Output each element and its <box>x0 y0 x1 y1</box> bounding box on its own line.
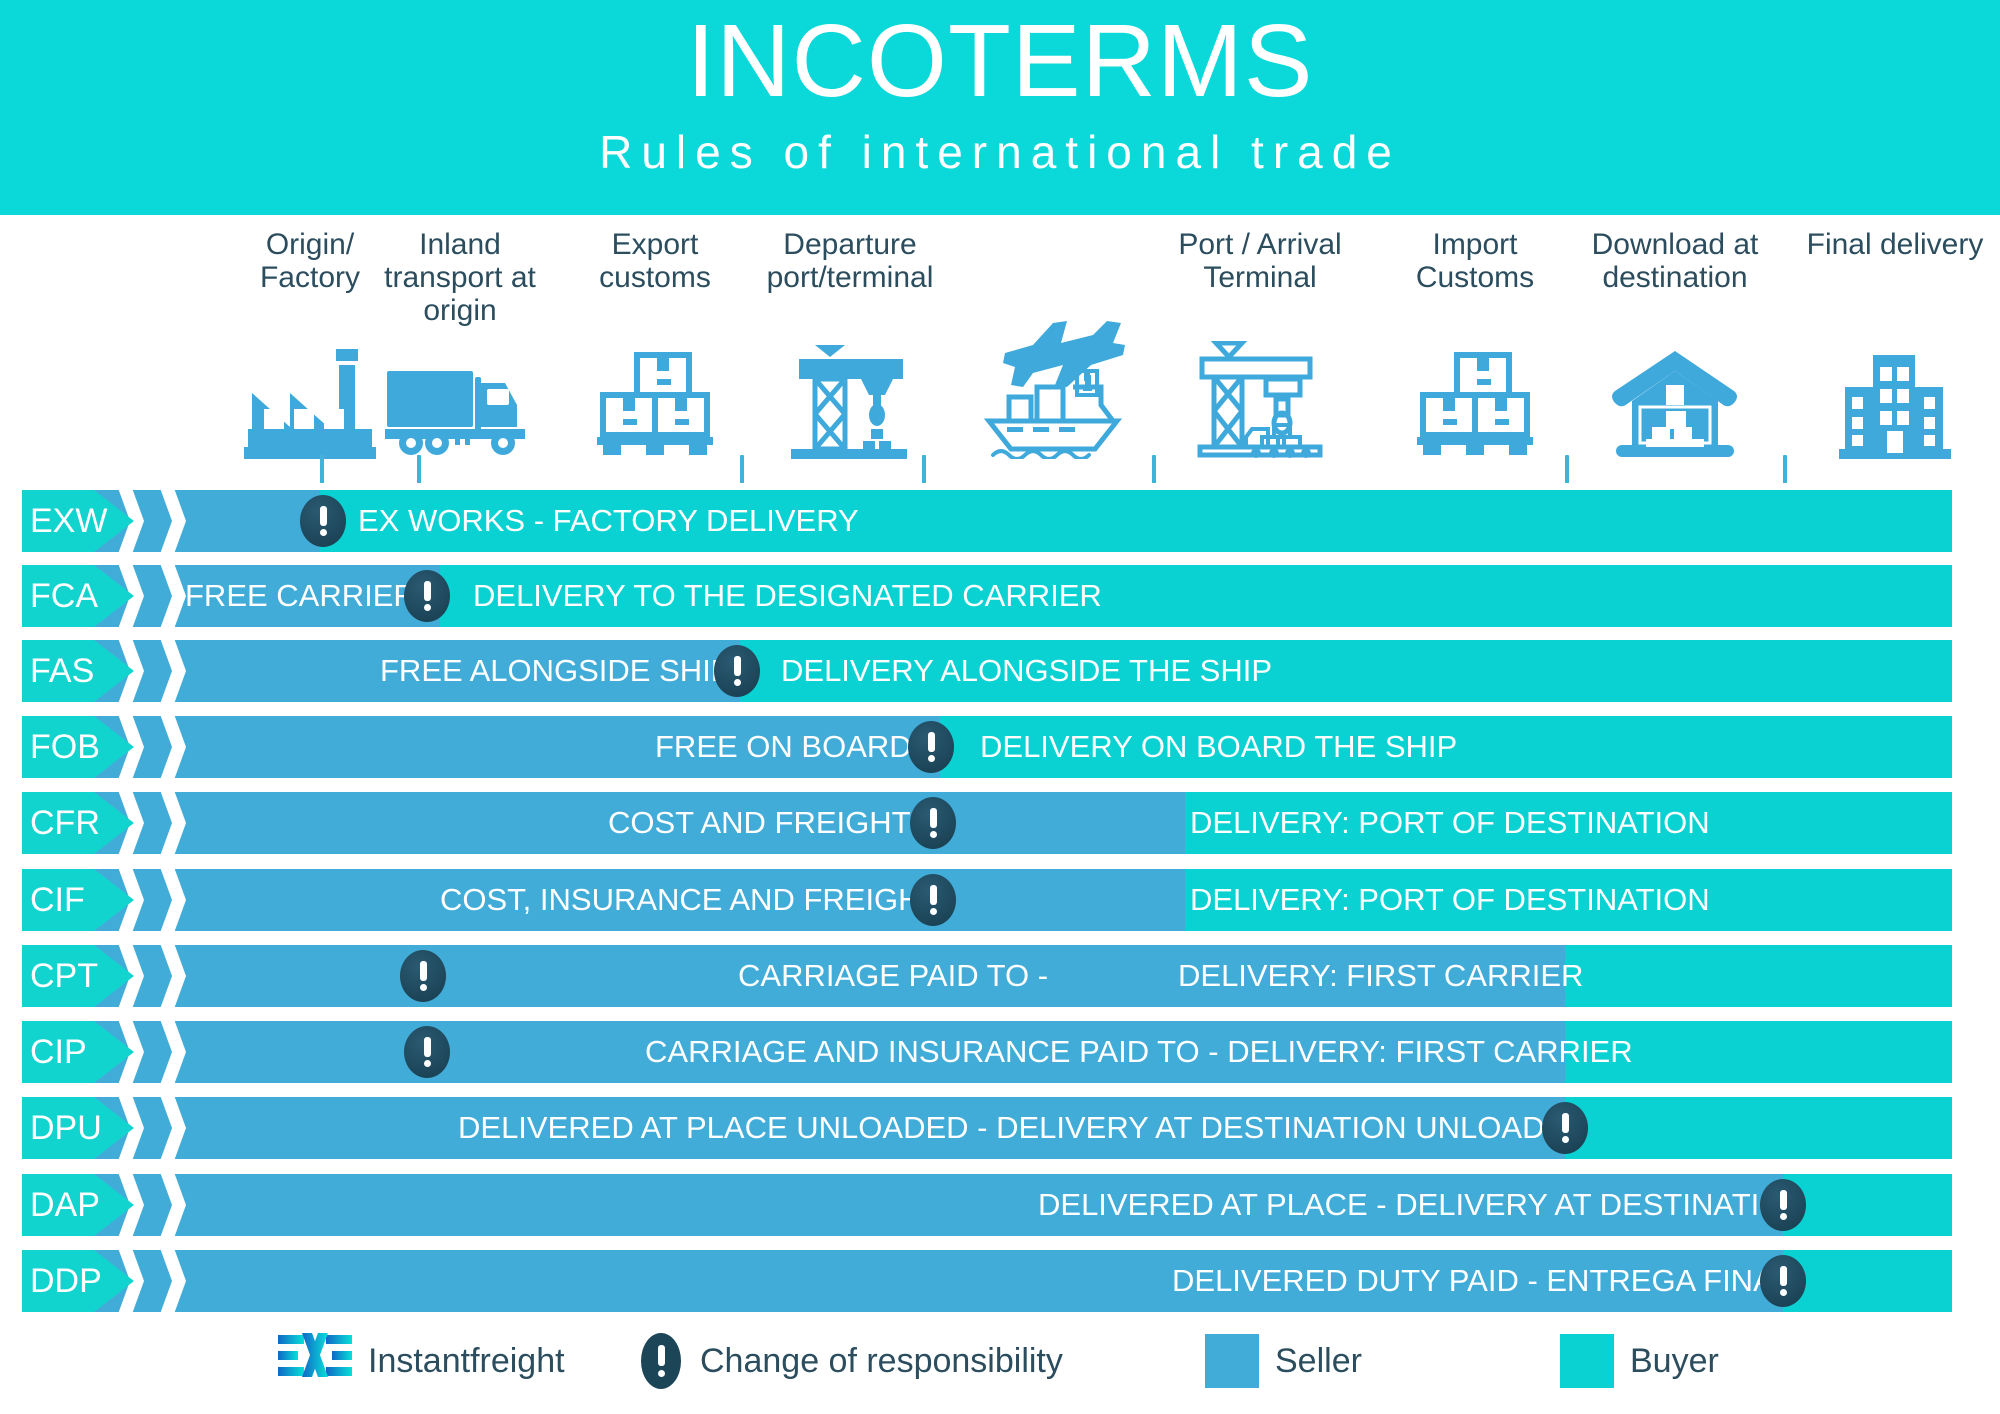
change-of-responsibility-icon[interactable] <box>1760 1250 1806 1312</box>
column-separator <box>320 633 325 640</box>
column-separator <box>1565 633 1570 640</box>
legend-seller: Seller <box>1205 1326 1362 1396</box>
buyer-segment <box>1565 945 1952 1007</box>
column-separator <box>320 558 325 565</box>
incoterm-code-label: CIF <box>30 869 114 931</box>
column-separator <box>1152 709 1157 716</box>
column-separator <box>320 1014 325 1021</box>
column-separator <box>740 633 745 640</box>
column-separator <box>417 1167 422 1174</box>
change-of-responsibility-icon[interactable] <box>1542 1097 1588 1159</box>
column-separator <box>1152 633 1157 640</box>
column-separator <box>1783 1243 1788 1250</box>
column-separator <box>1565 938 1570 945</box>
incoterm-description: CARRIAGE AND INSURANCE PAID TO - DELIVER… <box>645 1021 1633 1083</box>
seller-color-swatch <box>1205 1334 1259 1388</box>
incoterm-row[interactable]: DDPDELIVERED DUTY PAID - ENTREGA FINAL <box>0 1250 2000 1312</box>
stage-column-label: Final delivery <box>1790 228 2000 261</box>
column-separator <box>740 1014 745 1021</box>
incoterm-description: FREE ON BOARD <box>655 716 912 778</box>
incoterm-row[interactable]: CPTCARRIAGE PAID TO -DELIVERY: FIRST CAR… <box>0 945 2000 1007</box>
column-separator <box>417 633 422 640</box>
column-separator <box>1565 1090 1570 1097</box>
column-separator <box>1565 558 1570 565</box>
column-separator <box>1783 483 1788 490</box>
column-separator <box>740 1090 745 1097</box>
column-separator <box>740 785 745 792</box>
column-separator <box>1565 1014 1570 1021</box>
legend-brand-label: Instantfreight <box>368 1342 565 1381</box>
column-separator <box>1152 785 1157 792</box>
column-separator <box>1152 483 1157 490</box>
column-separator <box>417 709 422 716</box>
buyer-segment <box>1783 1174 1952 1236</box>
column-separator <box>740 1167 745 1174</box>
change-of-responsibility-icon[interactable] <box>300 490 346 552</box>
column-separator <box>922 862 927 869</box>
column-separator <box>320 1090 325 1097</box>
column-separator <box>320 709 325 716</box>
incoterm-code-label: CIP <box>30 1021 114 1083</box>
incoterm-row[interactable]: EXWEX WORKS - FACTORY DELIVERY <box>0 490 2000 552</box>
column-separator <box>1565 709 1570 716</box>
stage-columns: Origin/ Factory Inland transport at orig… <box>0 228 2000 478</box>
change-of-responsibility-icon <box>638 1330 684 1392</box>
buyer-color-swatch <box>1560 1334 1614 1388</box>
column-separator <box>1783 633 1788 640</box>
incoterm-row[interactable]: CFRCOST AND FREIGHTDELIVERY: PORT OF DES… <box>0 792 2000 854</box>
column-separator <box>1565 785 1570 792</box>
incoterm-description: DELIVERED AT PLACE - DELIVERY AT DESTINA… <box>1038 1174 1806 1236</box>
buyer-segment <box>1783 1250 1952 1312</box>
column-separator <box>922 785 927 792</box>
incoterm-row[interactable]: FOBFREE ON BOARDDELIVERY ON BOARD THE SH… <box>0 716 2000 778</box>
column-separator <box>1152 862 1157 869</box>
incoterm-delivery-note: DELIVERY ALONGSIDE THE SHIP <box>781 640 1272 702</box>
column-separator <box>740 938 745 945</box>
column-separator <box>320 785 325 792</box>
buyer-segment <box>1565 1097 1952 1159</box>
incoterm-code-label: DDP <box>30 1250 114 1312</box>
column-separator <box>1152 1014 1157 1021</box>
incoterm-code-label: FOB <box>30 716 114 778</box>
column-separator <box>320 1167 325 1174</box>
port-crane-icon <box>735 339 965 459</box>
column-separator <box>1565 1167 1570 1174</box>
stage-column-label: Port / Arrival Terminal <box>1145 228 1375 294</box>
incoterm-code-label: FAS <box>30 640 114 702</box>
change-of-responsibility-icon[interactable] <box>908 716 954 778</box>
incoterm-description: EX WORKS - FACTORY DELIVERY <box>358 490 859 552</box>
page-header: INCOTERMS Rules of international trade <box>0 0 2000 215</box>
column-separator <box>417 1014 422 1021</box>
column-separator <box>417 862 422 869</box>
seller-segment <box>22 792 1185 854</box>
legend-responsibility-label: Change of responsibility <box>700 1342 1063 1381</box>
column-separator <box>740 558 745 565</box>
import-pallet-icon <box>1375 339 1575 459</box>
legend-brand: Instantfreight <box>278 1326 565 1396</box>
column-separator <box>1565 1243 1570 1250</box>
stage-column-label: Export customs <box>555 228 755 294</box>
incoterm-row[interactable]: CIPCARRIAGE AND INSURANCE PAID TO - DELI… <box>0 1021 2000 1083</box>
stage-column-label: Download at destination <box>1560 228 1790 294</box>
incoterm-delivery-note: DELIVERY TO THE DESIGNATED CARRIER <box>473 565 1102 627</box>
instantfreight-logo-icon <box>278 1331 352 1392</box>
stage-column-arrival-crane-icon: Port / Arrival Terminal <box>1145 228 1375 294</box>
incoterm-delivery-note: DELIVERY: FIRST CARRIER <box>1178 945 1583 1007</box>
incoterm-code-label: DAP <box>30 1174 114 1236</box>
incoterms-infographic: INCOTERMS Rules of international trade O… <box>0 0 2000 1414</box>
column-separator <box>922 938 927 945</box>
column-separator <box>922 1014 927 1021</box>
stage-column-port-crane-icon: Departure port/terminal <box>735 228 965 294</box>
incoterm-description: DELIVERED AT PLACE UNLOADED - DELIVERY A… <box>458 1097 1588 1159</box>
buildings-icon <box>1790 339 2000 459</box>
change-of-responsibility-icon[interactable] <box>404 1021 450 1083</box>
incoterm-description: CARRIAGE PAID TO - <box>738 945 1048 1007</box>
incoterm-code-label: EXW <box>30 490 114 552</box>
column-separator <box>922 558 927 565</box>
pallet-boxes-icon <box>555 339 755 459</box>
legend: Instantfreight Change of responsibility … <box>0 1326 2000 1414</box>
column-separator <box>1783 862 1788 869</box>
stage-column-truck-icon: Inland transport at origin <box>355 228 565 327</box>
change-of-responsibility-icon[interactable] <box>1760 1174 1806 1236</box>
incoterm-description: FREE CARRIER <box>185 565 416 627</box>
legend-buyer-label: Buyer <box>1630 1342 1719 1381</box>
column-separator <box>320 938 325 945</box>
column-separator <box>1152 1243 1157 1250</box>
page-title: INCOTERMS <box>0 6 2000 116</box>
legend-buyer: Buyer <box>1560 1326 1719 1396</box>
column-separator <box>1565 483 1570 490</box>
column-separator <box>417 785 422 792</box>
stage-column-warehouse-icon: Download at destination <box>1560 228 1790 294</box>
column-separator <box>1783 709 1788 716</box>
incoterm-description: DELIVERED DUTY PAID - ENTREGA FINAL <box>1172 1250 1791 1312</box>
incoterm-code-label: CPT <box>30 945 114 1007</box>
column-separator <box>1565 862 1570 869</box>
column-separator <box>922 1167 927 1174</box>
incoterm-row[interactable]: DAPDELIVERED AT PLACE - DELIVERY AT DEST… <box>0 1174 2000 1236</box>
column-separator <box>740 709 745 716</box>
incoterm-row[interactable]: FASFREE ALONGSIDE SHIPDELIVERY ALONGSIDE… <box>0 640 2000 702</box>
incoterm-row[interactable]: DPUDELIVERED AT PLACE UNLOADED - DELIVER… <box>0 1097 2000 1159</box>
legend-seller-label: Seller <box>1275 1342 1362 1381</box>
change-of-responsibility-icon[interactable] <box>404 565 450 627</box>
incoterm-row[interactable]: FCAFREE CARRIERDELIVERY TO THE DESIGNATE… <box>0 565 2000 627</box>
column-separator <box>417 938 422 945</box>
column-separator <box>922 1243 927 1250</box>
incoterm-description: COST AND FREIGHT <box>608 792 911 854</box>
incoterm-delivery-note: DELIVERY ON BOARD THE SHIP <box>980 716 1457 778</box>
warehouse-icon <box>1560 339 1790 459</box>
column-separator <box>417 1090 422 1097</box>
incoterm-delivery-note: DELIVERY: PORT OF DESTINATION <box>1190 869 1710 931</box>
incoterm-code-label: DPU <box>30 1097 114 1159</box>
stage-column-buildings-icon: Final delivery <box>1790 228 2000 261</box>
change-of-responsibility-icon[interactable] <box>714 640 760 702</box>
column-separator <box>417 558 422 565</box>
truck-icon <box>355 339 565 459</box>
column-separator <box>1783 1167 1788 1174</box>
change-of-responsibility-icon[interactable] <box>910 792 956 854</box>
column-separator <box>417 483 422 490</box>
incoterm-row[interactable]: CIFCOST, INSURANCE AND FREIGHTDELIVERY: … <box>0 869 2000 931</box>
column-separator <box>320 1243 325 1250</box>
column-separator <box>1783 938 1788 945</box>
column-separator <box>922 709 927 716</box>
column-separator <box>1783 558 1788 565</box>
incoterm-code-label: CFR <box>30 792 114 854</box>
column-separator <box>320 483 325 490</box>
column-separator <box>1783 1090 1788 1097</box>
incoterm-description: FREE ALONGSIDE SHIP <box>380 640 731 702</box>
column-separator <box>1152 558 1157 565</box>
column-separator <box>740 483 745 490</box>
column-separator <box>417 1243 422 1250</box>
stage-column-pallet-boxes-icon: Export customs <box>555 228 755 294</box>
arrival-crane-icon <box>1145 339 1375 459</box>
incoterm-code-label: FCA <box>30 565 114 627</box>
incoterm-description: COST, INSURANCE AND FREIGHT <box>440 869 940 931</box>
column-separator <box>1783 785 1788 792</box>
stage-column-label: Departure port/terminal <box>735 228 965 294</box>
change-of-responsibility-icon[interactable] <box>910 869 956 931</box>
column-separator <box>1152 1167 1157 1174</box>
stage-column-label: Inland transport at origin <box>355 228 565 327</box>
column-separator <box>1783 1014 1788 1021</box>
column-separator <box>922 483 927 490</box>
column-separator <box>320 862 325 869</box>
stage-column-label: Import Customs <box>1375 228 1575 294</box>
change-of-responsibility-icon[interactable] <box>400 945 446 1007</box>
column-separator <box>740 862 745 869</box>
column-separator <box>1152 1090 1157 1097</box>
column-separator <box>1152 938 1157 945</box>
plane-ship-icon <box>955 339 1155 459</box>
column-separator <box>922 633 927 640</box>
incoterm-delivery-note: DELIVERY: PORT OF DESTINATION <box>1190 792 1710 854</box>
column-separator <box>740 1243 745 1250</box>
column-separator <box>922 1090 927 1097</box>
stage-column-import-pallet-icon: Import Customs <box>1375 228 1575 294</box>
legend-responsibility: Change of responsibility <box>638 1326 1063 1396</box>
page-subtitle: Rules of international trade <box>0 125 2000 179</box>
